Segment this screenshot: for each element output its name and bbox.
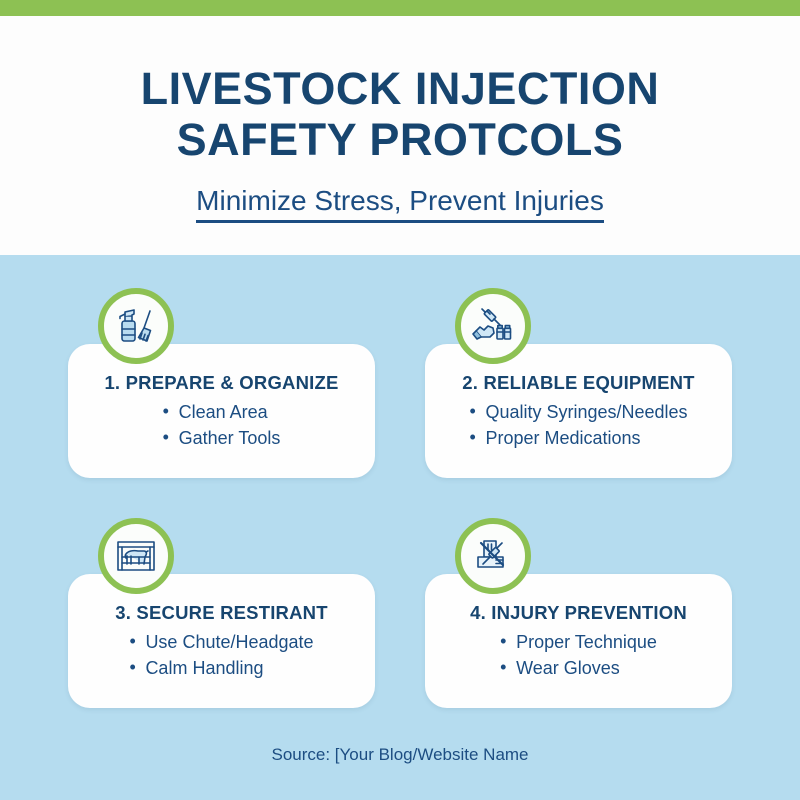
gloved-hand-no-needlestick-icon: [455, 518, 531, 594]
card-4-bullet-2: Wear Gloves: [500, 656, 657, 682]
card-3-bullet-2: Calm Handling: [129, 656, 313, 682]
body-panel: 1. PREPARE & ORGANIZE Clean Area Gather …: [0, 255, 800, 800]
card-4-bullet-1: Proper Technique: [500, 630, 657, 656]
spray-bottle-broom-icon: [98, 288, 174, 364]
card-4-bullets: Proper Technique Wear Gloves: [500, 630, 657, 681]
page-title-line-2: SAFETY PROTCOLS: [141, 115, 660, 166]
source-note: Source: [Your Blog/Website Name: [0, 745, 800, 765]
page-subtitle: Minimize Stress, Prevent Injuries: [196, 184, 604, 224]
cattle-chute-icon: [98, 518, 174, 594]
card-3-bullets: Use Chute/Headgate Calm Handling: [129, 630, 313, 681]
card-1[interactable]: 1. PREPARE & ORGANIZE Clean Area Gather …: [68, 344, 375, 478]
card-2-bullet-2: Proper Medications: [469, 426, 687, 452]
header-panel: LIVESTOCK INJECTION SAFETY PROTCOLS Mini…: [0, 16, 800, 255]
card-2-bullets: Quality Syringes/Needles Proper Medicati…: [469, 400, 687, 451]
card-3[interactable]: 3. SECURE RESTIRANT Use Chute/Headgate C…: [68, 574, 375, 708]
card-1-bullet-2: Gather Tools: [163, 426, 281, 452]
infographic-canvas: LIVESTOCK INJECTION SAFETY PROTCOLS Mini…: [0, 0, 800, 800]
card-slot-4: 4. INJURY PREVENTION Proper Technique We…: [425, 518, 732, 718]
card-1-heading: 1. PREPARE & ORGANIZE: [78, 372, 365, 394]
card-2[interactable]: 2. RELIABLE EQUIPMENT Quality Syringes/N…: [425, 344, 732, 478]
card-2-bullet-1: Quality Syringes/Needles: [469, 400, 687, 426]
card-4-heading: 4. INJURY PREVENTION: [435, 602, 722, 624]
top-accent-bar: [0, 0, 800, 16]
card-3-bullet-1: Use Chute/Headgate: [129, 630, 313, 656]
card-2-heading: 2. RELIABLE EQUIPMENT: [435, 372, 722, 394]
card-slot-1: 1. PREPARE & ORGANIZE Clean Area Gather …: [68, 288, 375, 488]
hand-syringe-vials-icon: [455, 288, 531, 364]
page-title: LIVESTOCK INJECTION SAFETY PROTCOLS: [141, 64, 660, 166]
page-title-line-1: LIVESTOCK INJECTION: [141, 64, 660, 115]
card-1-bullet-1: Clean Area: [163, 400, 281, 426]
card-slot-2: 2. RELIABLE EQUIPMENT Quality Syringes/N…: [425, 288, 732, 488]
card-slot-3: 3. SECURE RESTIRANT Use Chute/Headgate C…: [68, 518, 375, 718]
card-4[interactable]: 4. INJURY PREVENTION Proper Technique We…: [425, 574, 732, 708]
card-1-bullets: Clean Area Gather Tools: [163, 400, 281, 451]
card-3-heading: 3. SECURE RESTIRANT: [78, 602, 365, 624]
